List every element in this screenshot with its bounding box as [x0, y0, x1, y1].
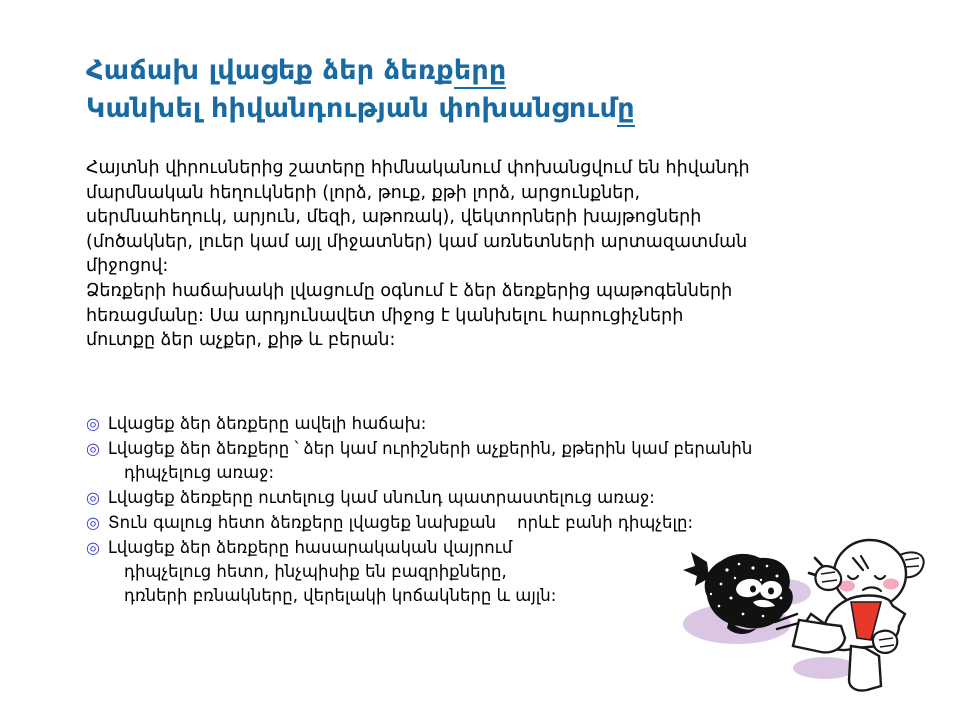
page-title: Հաճախ լվացեք ձեր ձեռքերը Կանխել հիվանդու…	[86, 52, 886, 128]
list-line: Լվացեք ձեր ձեռքերը ավելի հաճախ:	[108, 414, 426, 433]
list-line: դիպչելուց առաջ:	[108, 463, 274, 482]
list-item-text: Լվացեք ձեր ձեռքերը ավելի հաճախ:	[108, 412, 886, 436]
title-line-1: Հաճախ լվացեք ձեր ձեռքերը	[86, 52, 886, 90]
double-circle-bullet-icon: ◎	[86, 536, 108, 560]
child-cheek-right	[883, 579, 899, 590]
body-line: միջոցով:	[86, 254, 876, 279]
germ-pupil-left	[750, 586, 756, 593]
double-circle-bullet-icon: ◎	[86, 511, 108, 535]
germ-pupil-right	[768, 588, 774, 595]
double-circle-bullet-icon: ◎	[86, 437, 108, 461]
list-item-text: Լվացեք ձեռքերը ուտելուց կամ սնունդ պատրա…	[108, 486, 886, 510]
germ-knot	[683, 552, 709, 586]
list-item: ◎ Լվացեք ձեր ձեռքերը ՝ ձեր կամ ուրիշների…	[86, 437, 886, 485]
body-line: հեռացմանը: Սա արդյունավետ միջոց է կանխել…	[86, 304, 876, 329]
child-hand	[873, 631, 897, 653]
list-line: Լվացեք ձեռքերը ուտելուց կամ սնունդ պատրա…	[108, 488, 655, 507]
body-line: մարմնական հեղուկների (լորձ, թուք, քթի լո…	[86, 181, 876, 206]
list-line: դիպչելուց հետո, ինչպիսիք են բազրիքները,	[108, 562, 507, 581]
list-item: ◎ Լվացեք ձեռքերը ուտելուց կամ սնունդ պատ…	[86, 486, 886, 510]
list-item-text: Լվացեք ձեր ձեռքերը ՝ ձեր կամ ուրիշների ա…	[108, 437, 886, 485]
title-line-2-main: Կանխել հիվանդության փոխանցում	[86, 93, 617, 124]
list-line: դռների բռնակները, վերելակի կոճակները և ա…	[108, 586, 556, 605]
body-paragraph: Հայտնի վիրուսներից շատերը հիմնականում փո…	[86, 156, 876, 353]
body-line: (մոծակներ, լուեր կամ այլ միջատներ) կամ ա…	[86, 230, 876, 255]
body-line: Ձեռքերի հաճախակի լվացումը օգնում է ձեր ձ…	[86, 279, 876, 304]
double-circle-bullet-icon: ◎	[86, 486, 108, 510]
body-line: Հայտնի վիրուսներից շատերը հիմնականում փո…	[86, 156, 876, 181]
child-fist	[815, 566, 841, 590]
child-shadow	[793, 657, 857, 679]
slide-root: Հաճախ լվացեք ձեր ձեռքերը Կանխել հիվանդու…	[0, 0, 960, 720]
body-line: սերմնահեղուկ, արյուն, մեզի, աթոռակ), վեկ…	[86, 205, 876, 230]
list-item: ◎ Լվացեք ձեր ձեռքերը ավելի հաճախ:	[86, 412, 886, 436]
child-standing-leg	[849, 646, 881, 691]
child-kicking-germ-illustration	[665, 528, 955, 713]
title-line-1-main: Հաճախ լվացեք ձեր ձեռք	[86, 55, 454, 86]
double-circle-bullet-icon: ◎	[86, 412, 108, 436]
title-line-2: Կանխել հիվանդության փոխանցումը	[86, 90, 886, 128]
child-kicking-leg	[793, 620, 845, 652]
title-line-1-underlined: երը	[454, 55, 507, 89]
title-line-2-underlined: ը	[617, 93, 635, 127]
list-line: Տուն գալուց հետո ձեռքերը լվացեք նախքան	[108, 513, 496, 532]
body-line: մուտքը ձեր աչքեր, քիթ և բերան:	[86, 328, 876, 353]
list-line: Լվացեք ձեր ձեռքերը հասարակական վայրում	[108, 538, 512, 557]
list-line: Լվացեք ձեր ձեռքերը ՝ ձեր կամ ուրիշների ա…	[108, 439, 752, 458]
